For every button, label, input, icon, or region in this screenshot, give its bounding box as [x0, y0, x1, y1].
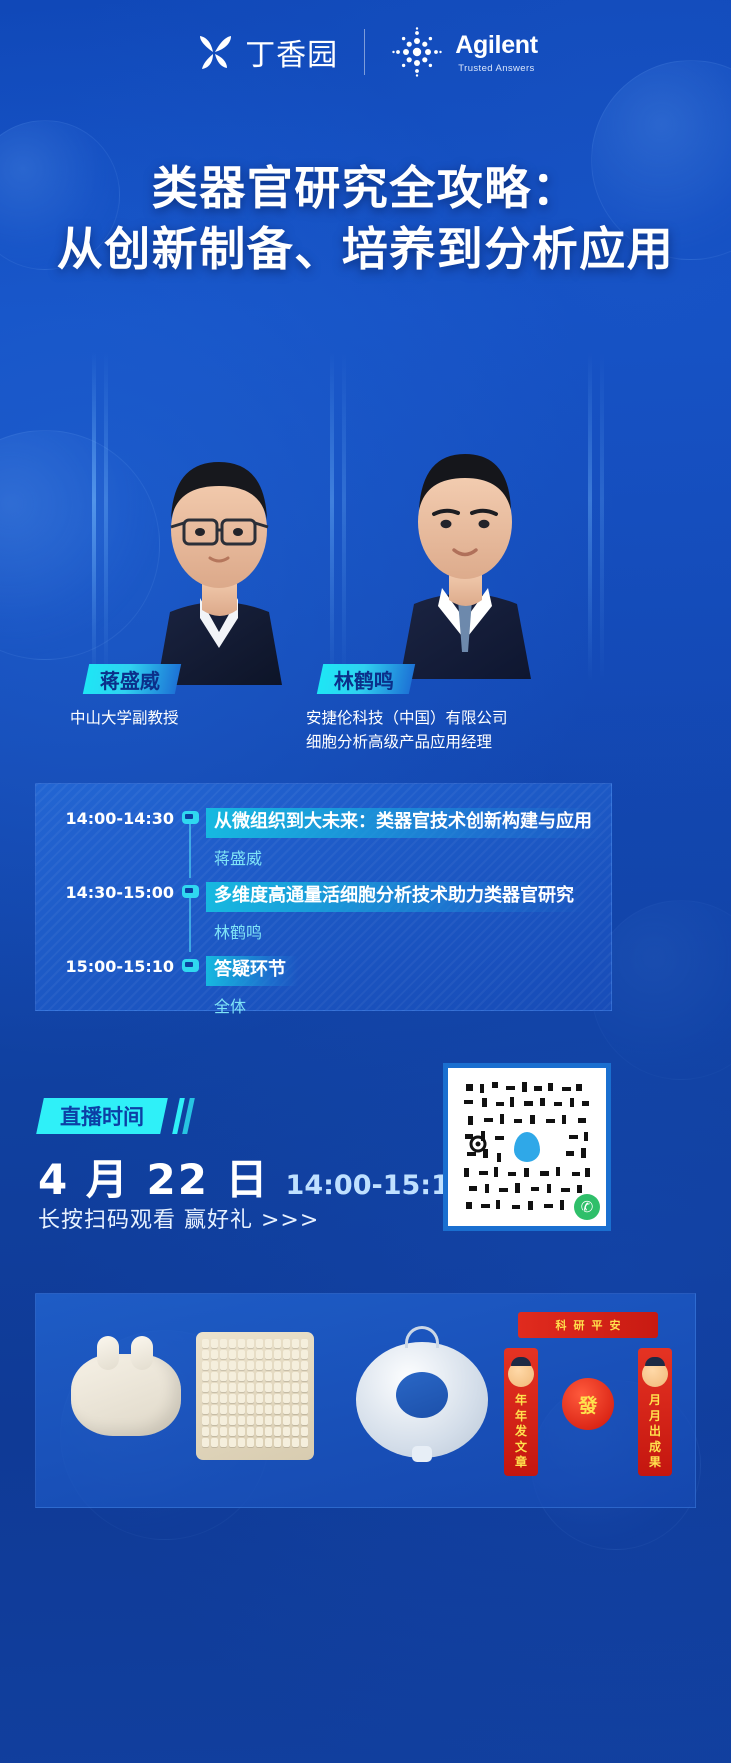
badge-slashes [172, 1098, 195, 1134]
couplet-left-scroll: 年 年 发 文 章 [504, 1348, 538, 1476]
couplet-char: 成 [649, 1441, 661, 1454]
video-marker-icon [182, 959, 199, 972]
agenda-panel: 14:00-14:30 从微组织到大未来：类器官技术创新构建与应用 蒋盛威 14… [35, 783, 612, 1011]
live-time-label: 直播时间 [60, 1101, 144, 1131]
agenda-connector [189, 824, 191, 878]
couplet-char: 果 [649, 1456, 661, 1469]
logo-divider [364, 29, 365, 75]
agenda-time: 15:00-15:10 [36, 956, 174, 976]
title-line-1: 类器官研究全攻略： [0, 158, 731, 219]
wechat-icon: ✆ [574, 1194, 600, 1220]
speaker-name-2: 林鹤鸣 [334, 665, 394, 694]
couplet-char: 月 [649, 1410, 661, 1423]
dxy-logo-text: 丁香园 [245, 30, 338, 74]
agilent-starburst-icon [391, 26, 443, 78]
agenda-time: 14:30-15:00 [36, 882, 174, 902]
prizes-banner: 科 研 平 安 年 年 发 文 章 發 月 月 出 成 果 [35, 1293, 696, 1508]
leaf-icon [193, 31, 235, 73]
agenda-marker-col [174, 956, 206, 972]
couplet-char: 文 [515, 1441, 527, 1454]
fu-medallion: 發 [562, 1378, 614, 1430]
live-date-row: 4 月 22 日 14:00-15:10 [38, 1146, 469, 1207]
agenda-presenter: 林鹤鸣 [206, 919, 613, 943]
header-logos: 丁香园 Agilent [0, 0, 731, 104]
spring-festival-couplets-image: 科 研 平 安 年 年 发 文 章 發 月 月 出 成 果 [504, 1312, 672, 1492]
couplet-banner-char: 安 [610, 1317, 621, 1333]
speaker-affiliation-2: 安捷伦科技（中国）有限公司 细胞分析高级产品应用经理 [306, 706, 508, 754]
live-time-range: 14:00-15:10 [286, 1170, 469, 1201]
video-marker-icon [182, 811, 199, 824]
couplet-char: 年 [515, 1394, 527, 1407]
video-marker-icon [182, 885, 199, 898]
speaker-name-badge-2: 林鹤鸣 [317, 664, 415, 694]
agenda-marker-col [174, 882, 206, 898]
agenda-presenter: 蒋盛威 [206, 845, 613, 869]
affiliation-line: 细胞分析高级产品应用经理 [306, 730, 508, 754]
mascot-doll-icon [642, 1361, 668, 1387]
agenda-time: 14:00-14:30 [36, 808, 174, 828]
mascot-doll-icon [508, 1361, 534, 1387]
live-time-badge: 直播时间 [36, 1098, 168, 1134]
couplet-banner-char: 研 [574, 1317, 585, 1333]
speaker-photo-1 [112, 380, 327, 685]
agenda-topic: 多维度高通量活细胞分析技术助力类器官研究 [206, 882, 586, 912]
keyboard-image [196, 1332, 314, 1460]
speaker-name-badge-1: 蒋盛威 [83, 664, 181, 694]
qr-code[interactable]: ✆ [443, 1063, 611, 1231]
affiliation-line: 中山大学副教授 [70, 706, 179, 730]
travel-pillow-image [356, 1342, 488, 1458]
agenda-row: 15:00-15:10 答疑环节 全体 [36, 956, 613, 1017]
agilent-name: Agilent [455, 31, 538, 60]
live-date: 4 月 22 日 [38, 1146, 270, 1207]
couplet-banner-char: 平 [592, 1317, 603, 1333]
speaker-affiliation-1: 中山大学副教授 [70, 706, 179, 730]
agenda-connector [189, 898, 191, 952]
agenda-marker-col [174, 808, 206, 824]
agenda-row: 14:30-15:00 多维度高通量活细胞分析技术助力类器官研究 林鹤鸣 [36, 882, 613, 943]
scan-cta-text: 长按扫码观看 赢好礼 >>> [38, 1202, 319, 1234]
couplet-banner-char: 科 [556, 1317, 567, 1333]
agenda-presenter: 全体 [206, 993, 613, 1017]
couplet-char: 年 [515, 1410, 527, 1423]
fu-char: 發 [578, 1391, 597, 1418]
couplet-right-scroll: 月 月 出 成 果 [638, 1348, 672, 1476]
qr-code-image[interactable]: ✆ [448, 1068, 606, 1226]
neck-massager-image [71, 1354, 181, 1436]
couplet-char: 月 [649, 1394, 661, 1407]
speakers-section: 蒋盛威 林鹤鸣 中山大学副教授 安捷伦科技（中国）有限公司 细胞分析高级产品应用… [0, 352, 731, 822]
dxy-logo: 丁香园 [193, 30, 338, 74]
couplet-banner: 科 研 平 安 [518, 1312, 658, 1338]
couplet-char: 出 [649, 1425, 661, 1438]
couplet-char: 章 [515, 1456, 527, 1469]
agilent-logo: Agilent Trusted Answers [391, 26, 538, 78]
agenda-topic: 从微组织到大未来：类器官技术创新构建与应用 [206, 808, 604, 838]
title-line-2: 从创新制备、培养到分析应用 [0, 219, 731, 280]
agenda-row: 14:00-14:30 从微组织到大未来：类器官技术创新构建与应用 蒋盛威 [36, 808, 613, 869]
dxy-drop-icon [507, 1127, 547, 1167]
agenda-topic: 答疑环节 [206, 956, 298, 986]
couplet-char: 发 [515, 1425, 527, 1438]
affiliation-line: 安捷伦科技（中国）有限公司 [306, 706, 508, 730]
speaker-name-1: 蒋盛威 [100, 665, 160, 694]
agilent-tagline: Trusted Answers [458, 63, 534, 74]
poster-title: 类器官研究全攻略： 从创新制备、培养到分析应用 [0, 158, 731, 279]
speaker-photo-2 [358, 374, 573, 679]
